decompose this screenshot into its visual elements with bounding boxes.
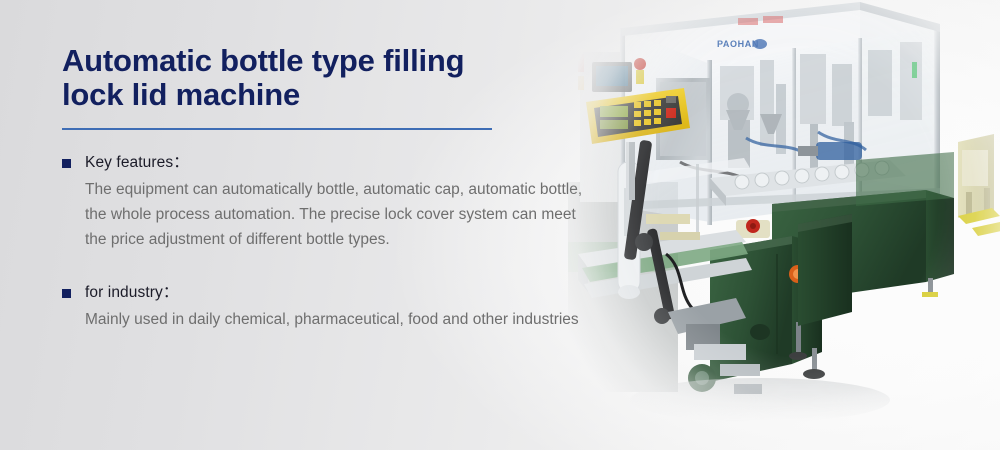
feature-heading: for industry： [85,283,178,302]
square-bullet-icon [62,159,71,168]
brand-logo-icon: PAOHAN [717,39,767,49]
feature-block-key-features: Key features： The equipment can automati… [62,153,602,252]
title-divider [62,128,492,130]
feature-body: The equipment can automatically bottle, … [85,177,597,252]
product-banner: Automatic bottle type filling lock lid m… [0,0,1000,450]
machine-photo: PAOHAN [560,0,1000,450]
feature-block-for-industry: for industry： Mainly used in daily chemi… [62,283,602,332]
bullet-row: Key features： [62,153,602,172]
square-bullet-icon [62,289,71,298]
discharge-frame [958,134,1000,236]
bullet-row: for industry： [62,283,602,302]
feature-heading: Key features： [85,153,189,172]
cabinet-middle [798,214,852,326]
page-title: Automatic bottle type filling lock lid m… [62,44,602,112]
text-panel: Automatic bottle type filling lock lid m… [62,44,602,332]
svg-text:PAOHAN: PAOHAN [717,39,759,49]
feature-body: Mainly used in daily chemical, pharmaceu… [85,307,593,332]
